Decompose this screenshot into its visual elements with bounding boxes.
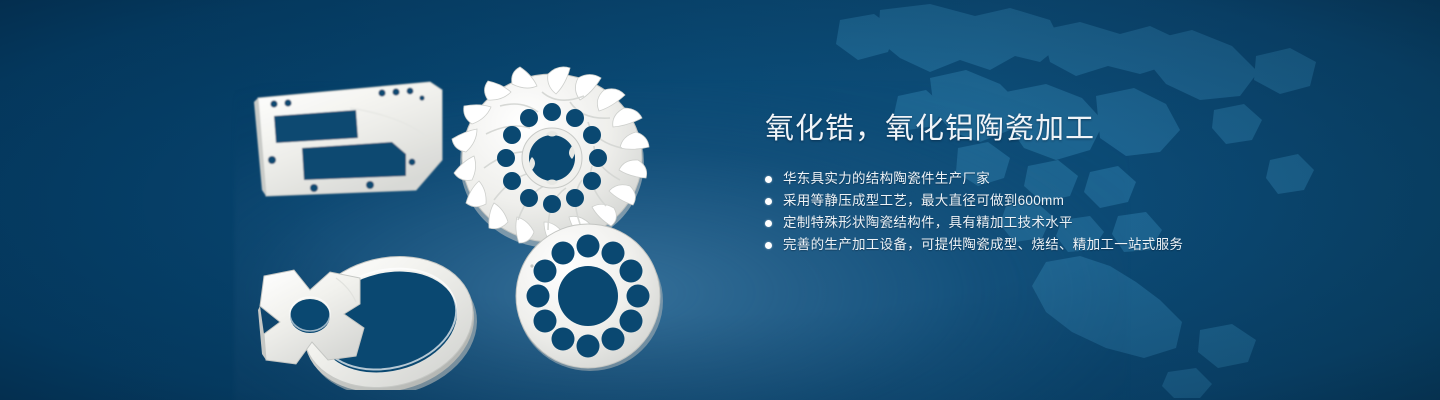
ceramic-machined-plate xyxy=(254,82,442,196)
ceramic-vaned-impeller xyxy=(452,67,649,248)
feature-list: 华东具实力的结构陶瓷件生产厂家 采用等静压成型工艺，最大直径可做到600mm 定… xyxy=(765,168,1385,256)
list-item: 采用等静压成型工艺，最大直径可做到600mm xyxy=(765,190,1385,212)
ceramic-perforated-disc xyxy=(516,224,663,371)
product-photo-group xyxy=(230,30,700,390)
list-item: 华东具实力的结构陶瓷件生产厂家 xyxy=(765,168,1385,190)
feature-text: 华东具实力的结构陶瓷件生产厂家 xyxy=(783,168,990,190)
page-title: 氧化锆，氧化铝陶瓷加工 xyxy=(765,110,1385,148)
bullet-dot-icon xyxy=(765,220,772,227)
bullet-dot-icon xyxy=(765,198,772,205)
hero-banner: 氧化锆，氧化铝陶瓷加工 华东具实力的结构陶瓷件生产厂家 采用等静压成型工艺，最大… xyxy=(0,0,1440,400)
feature-text: 定制特殊形状陶瓷结构件，具有精加工技术水平 xyxy=(783,212,1073,234)
bullet-dot-icon xyxy=(765,176,772,183)
bullet-dot-icon xyxy=(765,242,772,249)
feature-text: 采用等静压成型工艺，最大直径可做到600mm xyxy=(783,190,1064,212)
banner-text-column: 氧化锆，氧化铝陶瓷加工 华东具实力的结构陶瓷件生产厂家 采用等静压成型工艺，最大… xyxy=(765,110,1385,256)
list-item: 完善的生产加工设备，可提供陶瓷成型、烧结、精加工一站式服务 xyxy=(765,234,1385,256)
list-item: 定制特殊形状陶瓷结构件，具有精加工技术水平 xyxy=(765,212,1385,234)
feature-text: 完善的生产加工设备，可提供陶瓷成型、烧结、精加工一站式服务 xyxy=(783,234,1183,256)
